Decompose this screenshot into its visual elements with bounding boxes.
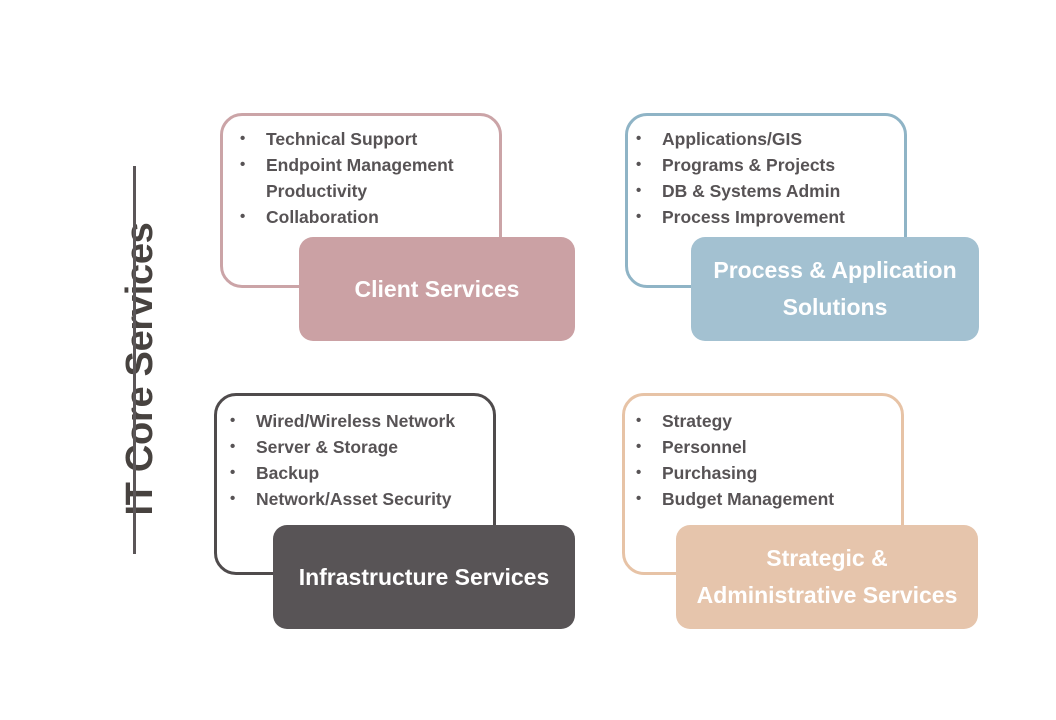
bullet-text: Technical Support [266, 126, 502, 152]
list-item: • Network/Asset Security [230, 486, 500, 512]
category-card-infrastructure-services[interactable]: Infrastructure Services [273, 525, 575, 629]
bullet-marker-icon: • [636, 434, 662, 460]
list-item: • Personnel [636, 434, 904, 460]
bullet-text: Network/Asset Security [256, 486, 500, 512]
list-item: • Collaboration [240, 204, 502, 230]
bullet-text: Process Improvement [662, 204, 908, 230]
list-item: Productivity [240, 178, 502, 204]
bullet-marker-icon: • [230, 434, 256, 460]
bullet-marker-icon: • [636, 408, 662, 434]
bullet-text: Applications/GIS [662, 126, 908, 152]
bullet-marker-icon: • [240, 204, 266, 230]
bullet-text: Collaboration [266, 204, 502, 230]
list-item: • Endpoint Management [240, 152, 502, 178]
list-item: • Technical Support [240, 126, 502, 152]
diagram-canvas: IT Core Services • Technical Support • E… [0, 0, 1056, 720]
list-item: • Purchasing [636, 460, 904, 486]
list-item: • Budget Management [636, 486, 904, 512]
list-item: • Backup [230, 460, 500, 486]
category-card-client-services[interactable]: Client Services [299, 237, 575, 341]
bullet-text: Personnel [662, 434, 904, 460]
category-card-process-application-solutions[interactable]: Process & Application Solutions [691, 237, 979, 341]
bullet-text: Productivity [266, 178, 502, 204]
bullet-marker-icon: • [636, 486, 662, 512]
bullet-list-infrastructure-services: • Wired/Wireless Network • Server & Stor… [230, 408, 500, 512]
bullet-text: Programs & Projects [662, 152, 908, 178]
list-item: • Programs & Projects [636, 152, 908, 178]
bullet-marker-icon: • [230, 460, 256, 486]
bullet-text: Server & Storage [256, 434, 500, 460]
bullet-marker-icon: • [636, 460, 662, 486]
bullet-text: Strategy [662, 408, 904, 434]
bullet-marker-icon: • [230, 408, 256, 434]
title-divider-rule [133, 166, 136, 554]
bullet-marker-icon: • [636, 204, 662, 230]
page-title: IT Core Services [117, 169, 163, 569]
bullet-text: DB & Systems Admin [662, 178, 908, 204]
list-item: • DB & Systems Admin [636, 178, 908, 204]
bullet-marker-icon: • [240, 152, 266, 178]
bullet-marker-icon: • [636, 152, 662, 178]
bullet-list-client-services: • Technical Support • Endpoint Managemen… [240, 126, 502, 230]
category-card-label: Client Services [355, 271, 520, 308]
category-card-label: Strategic & Administrative Services [690, 540, 964, 614]
bullet-marker-icon: • [636, 126, 662, 152]
bullet-marker-icon: • [230, 486, 256, 512]
bullet-text: Budget Management [662, 486, 904, 512]
list-item: • Server & Storage [230, 434, 500, 460]
category-card-label: Infrastructure Services [299, 559, 550, 596]
list-item: • Strategy [636, 408, 904, 434]
bullet-list-process-application-solutions: • Applications/GIS • Programs & Projects… [636, 126, 908, 230]
category-card-label: Process & Application Solutions [705, 252, 965, 326]
list-item: • Wired/Wireless Network [230, 408, 500, 434]
bullet-text: Wired/Wireless Network [256, 408, 500, 434]
list-item: • Applications/GIS [636, 126, 908, 152]
bullet-marker-icon: • [636, 178, 662, 204]
bullet-text: Backup [256, 460, 500, 486]
category-card-strategic-administrative-services[interactable]: Strategic & Administrative Services [676, 525, 978, 629]
bullet-list-strategic-administrative-services: • Strategy • Personnel • Purchasing • Bu… [636, 408, 904, 512]
bullet-marker-icon: • [240, 126, 266, 152]
vertical-title-group: IT Core Services [62, 168, 142, 568]
bullet-text: Purchasing [662, 460, 904, 486]
list-item: • Process Improvement [636, 204, 908, 230]
bullet-text: Endpoint Management [266, 152, 502, 178]
